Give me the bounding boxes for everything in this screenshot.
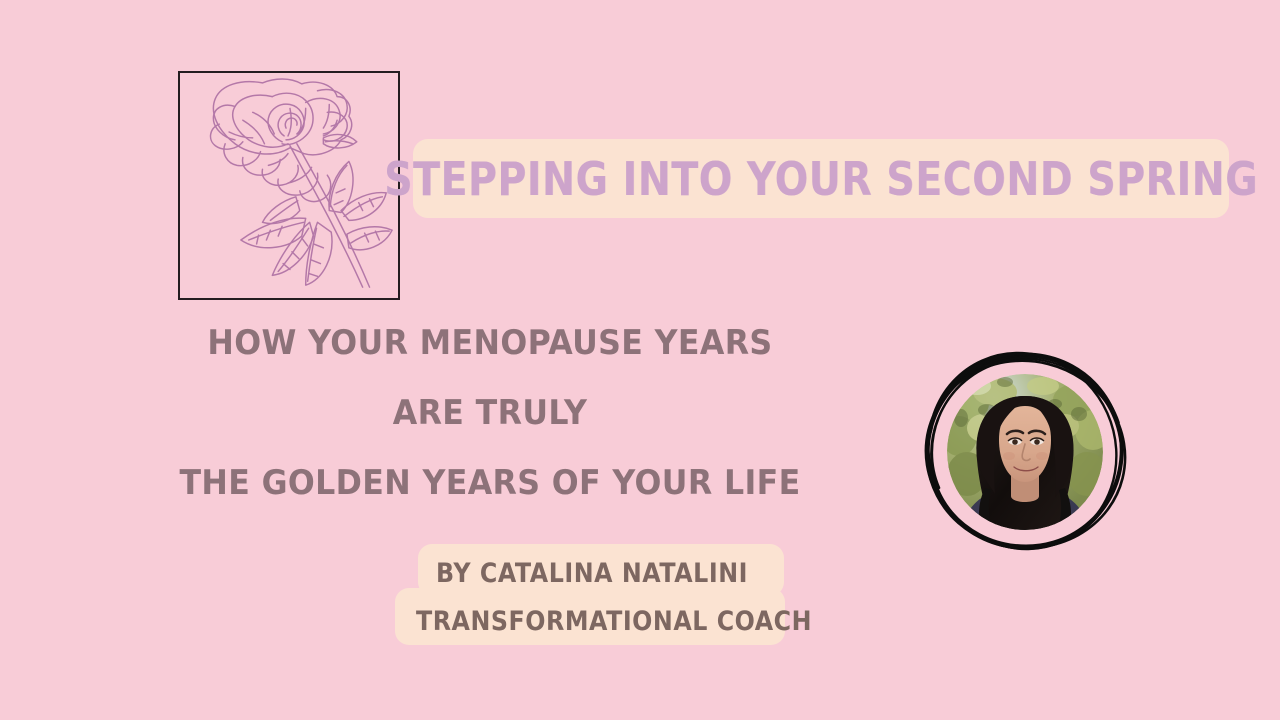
flower-artwork-frame xyxy=(178,71,400,300)
portrait-photo-icon xyxy=(947,374,1103,530)
author-role: TRANSFORMATIONAL COACH xyxy=(416,608,768,635)
title-banner: STEPPING INTO YOUR SECOND SPRING xyxy=(413,139,1229,218)
headline-line-3: THE GOLDEN YEARS OF YOUR LIFE xyxy=(146,466,834,500)
headline-block: HOW YOUR MENOPAUSE YEARS ARE TRULY THE G… xyxy=(120,326,860,500)
slide-title: STEPPING INTO YOUR SECOND SPRING xyxy=(384,156,1258,202)
byline-block: BY CATALINA NATALINI TRANSFORMATIONAL CO… xyxy=(392,544,792,648)
peony-icon xyxy=(180,73,398,298)
headline-line-2: ARE TRULY xyxy=(146,396,834,430)
avatar xyxy=(947,374,1103,530)
presentation-slide: STEPPING INTO YOUR SECOND SPRING HOW YOU… xyxy=(0,0,1280,720)
headline-line-1: HOW YOUR MENOPAUSE YEARS xyxy=(146,326,834,360)
author-portrait xyxy=(899,326,1151,578)
author-name: BY CATALINA NATALINI xyxy=(416,560,768,587)
